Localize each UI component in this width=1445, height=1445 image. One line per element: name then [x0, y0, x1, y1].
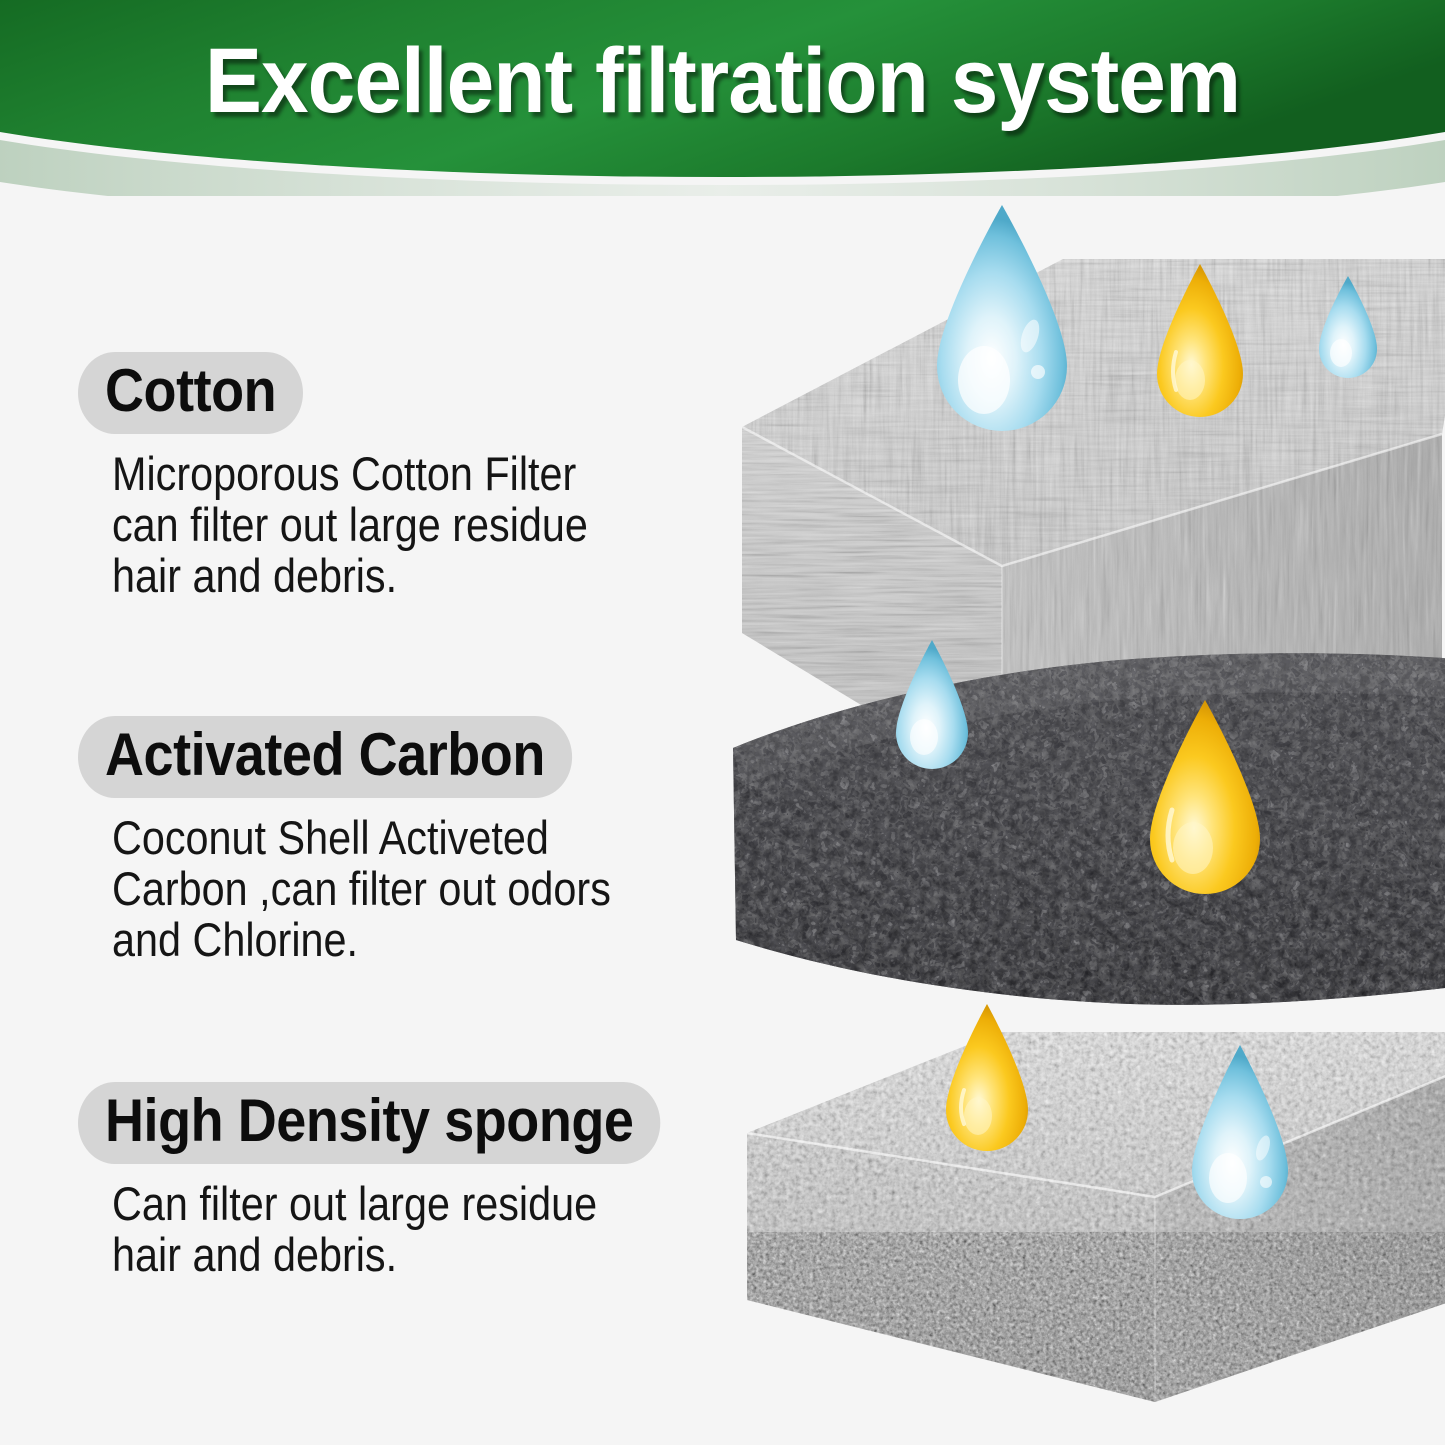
activated-carbon-layer-graphic — [700, 630, 1445, 1039]
infographic-canvas: Excellent filtration system Cotton Micro… — [0, 0, 1445, 1445]
feature-label-high-density-sponge: High Density sponge — [78, 1082, 660, 1164]
feature-block-cotton: Cotton Microporous Cotton Filter can fil… — [78, 352, 653, 602]
water-droplet-carbon — [896, 640, 968, 769]
cotton-layer-graphic — [720, 240, 1445, 820]
water-droplet-large — [937, 205, 1067, 431]
feature-description-cotton: Microporous Cotton Filter can filter out… — [112, 448, 588, 602]
feature-description-high-density-sponge: Can filter out large residue hair and de… — [112, 1178, 652, 1280]
feature-label-activated-carbon: Activated Carbon — [78, 716, 572, 798]
oil-droplet-medium — [1157, 264, 1243, 417]
oil-droplet-carbon — [1150, 700, 1260, 894]
page-title: Excellent filtration system — [51, 30, 1395, 133]
feature-block-high-density-sponge: High Density sponge Can filter out large… — [78, 1082, 725, 1280]
feature-label-cotton: Cotton — [78, 352, 303, 434]
header-banner: Excellent filtration system — [0, 0, 1445, 196]
water-droplet-sponge — [1192, 1045, 1288, 1219]
feature-description-activated-carbon: Coconut Shell Activeted Carbon ,can filt… — [112, 812, 611, 966]
sponge-layer-graphic — [720, 1010, 1445, 1430]
water-droplet-small — [1319, 276, 1377, 378]
oil-droplet-sponge — [946, 1004, 1028, 1151]
feature-block-activated-carbon: Activated Carbon Coconut Shell Activeted… — [78, 716, 679, 966]
